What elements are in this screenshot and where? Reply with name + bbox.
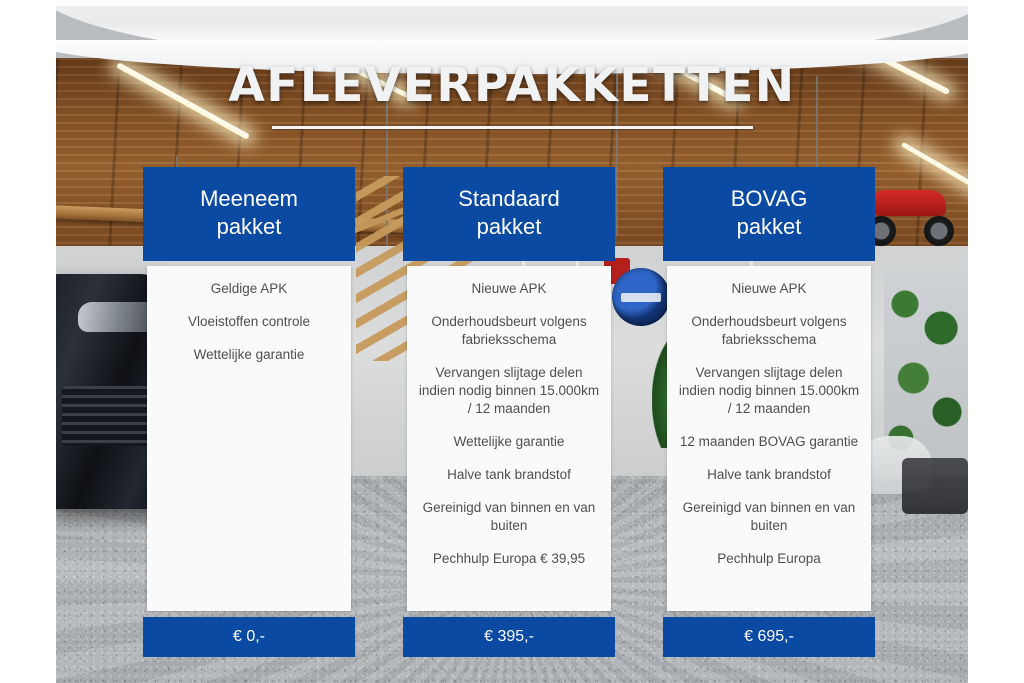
title-underline bbox=[272, 126, 753, 129]
package-card-bovag[interactable]: BOVAG pakket Nieuwe APK Onderhoudsbeurt … bbox=[663, 167, 875, 657]
package-price[interactable]: € 0,- bbox=[143, 617, 355, 657]
package-title-line-1: Meeneem bbox=[151, 185, 347, 213]
package-card-header: BOVAG pakket bbox=[663, 167, 875, 261]
package-title-line-1: Standaard bbox=[411, 185, 607, 213]
package-feature: Nieuwe APK bbox=[417, 280, 601, 298]
motorbike-wheel bbox=[924, 216, 954, 246]
package-feature: Gereinigd van binnen en van buiten bbox=[677, 499, 861, 535]
package-feature: Halve tank brandstof bbox=[417, 466, 601, 484]
package-feature: Nieuwe APK bbox=[677, 280, 861, 298]
package-feature: Onderhoudsbeurt volgens fabrieksschema bbox=[677, 313, 861, 349]
package-card-header: Meeneem pakket bbox=[143, 167, 355, 261]
package-feature-list: Nieuwe APK Onderhoudsbeurt volgens fabri… bbox=[407, 266, 611, 611]
package-feature: Geldige APK bbox=[157, 280, 341, 298]
package-card-list: Meeneem pakket Geldige APK Vloeistoffen … bbox=[143, 167, 883, 657]
slide-canvas: AFLEVERPAKKETTEN Meeneem pakket Geldige … bbox=[0, 0, 1024, 683]
motorbike-body bbox=[872, 190, 946, 216]
package-card-meeneem[interactable]: Meeneem pakket Geldige APK Vloeistoffen … bbox=[143, 167, 355, 657]
package-price[interactable]: € 695,- bbox=[663, 617, 875, 657]
package-feature: Wettelijke garantie bbox=[157, 346, 341, 364]
package-card-standaard[interactable]: Standaard pakket Nieuwe APK Onderhoudsbe… bbox=[403, 167, 615, 657]
package-feature: Pechhulp Europa € 39,95 bbox=[417, 550, 601, 568]
package-title-line-2: pakket bbox=[411, 213, 607, 241]
package-feature-list: Geldige APK Vloeistoffen controle Wettel… bbox=[147, 266, 351, 611]
package-title-line-2: pakket bbox=[671, 213, 867, 241]
package-title-line-1: BOVAG bbox=[671, 185, 867, 213]
package-feature: Vervangen slijtage delen indien nodig bi… bbox=[677, 364, 861, 418]
package-feature: 12 maanden BOVAG garantie bbox=[677, 433, 861, 451]
package-title-line-2: pakket bbox=[151, 213, 347, 241]
package-feature: Gereinigd van binnen en van buiten bbox=[417, 499, 601, 535]
showroom-sofa bbox=[902, 458, 968, 514]
package-card-header: Standaard pakket bbox=[403, 167, 615, 261]
package-price[interactable]: € 395,- bbox=[403, 617, 615, 657]
package-feature: Wettelijke garantie bbox=[417, 433, 601, 451]
package-feature: Halve tank brandstof bbox=[677, 466, 861, 484]
package-feature: Pechhulp Europa bbox=[677, 550, 861, 568]
package-feature: Vloeistoffen controle bbox=[157, 313, 341, 331]
package-feature-list: Nieuwe APK Onderhoudsbeurt volgens fabri… bbox=[667, 266, 871, 611]
page-title: AFLEVERPAKKETTEN bbox=[0, 58, 1024, 113]
package-feature: Onderhoudsbeurt volgens fabrieksschema bbox=[417, 313, 601, 349]
package-feature: Vervangen slijtage delen indien nodig bi… bbox=[417, 364, 601, 418]
